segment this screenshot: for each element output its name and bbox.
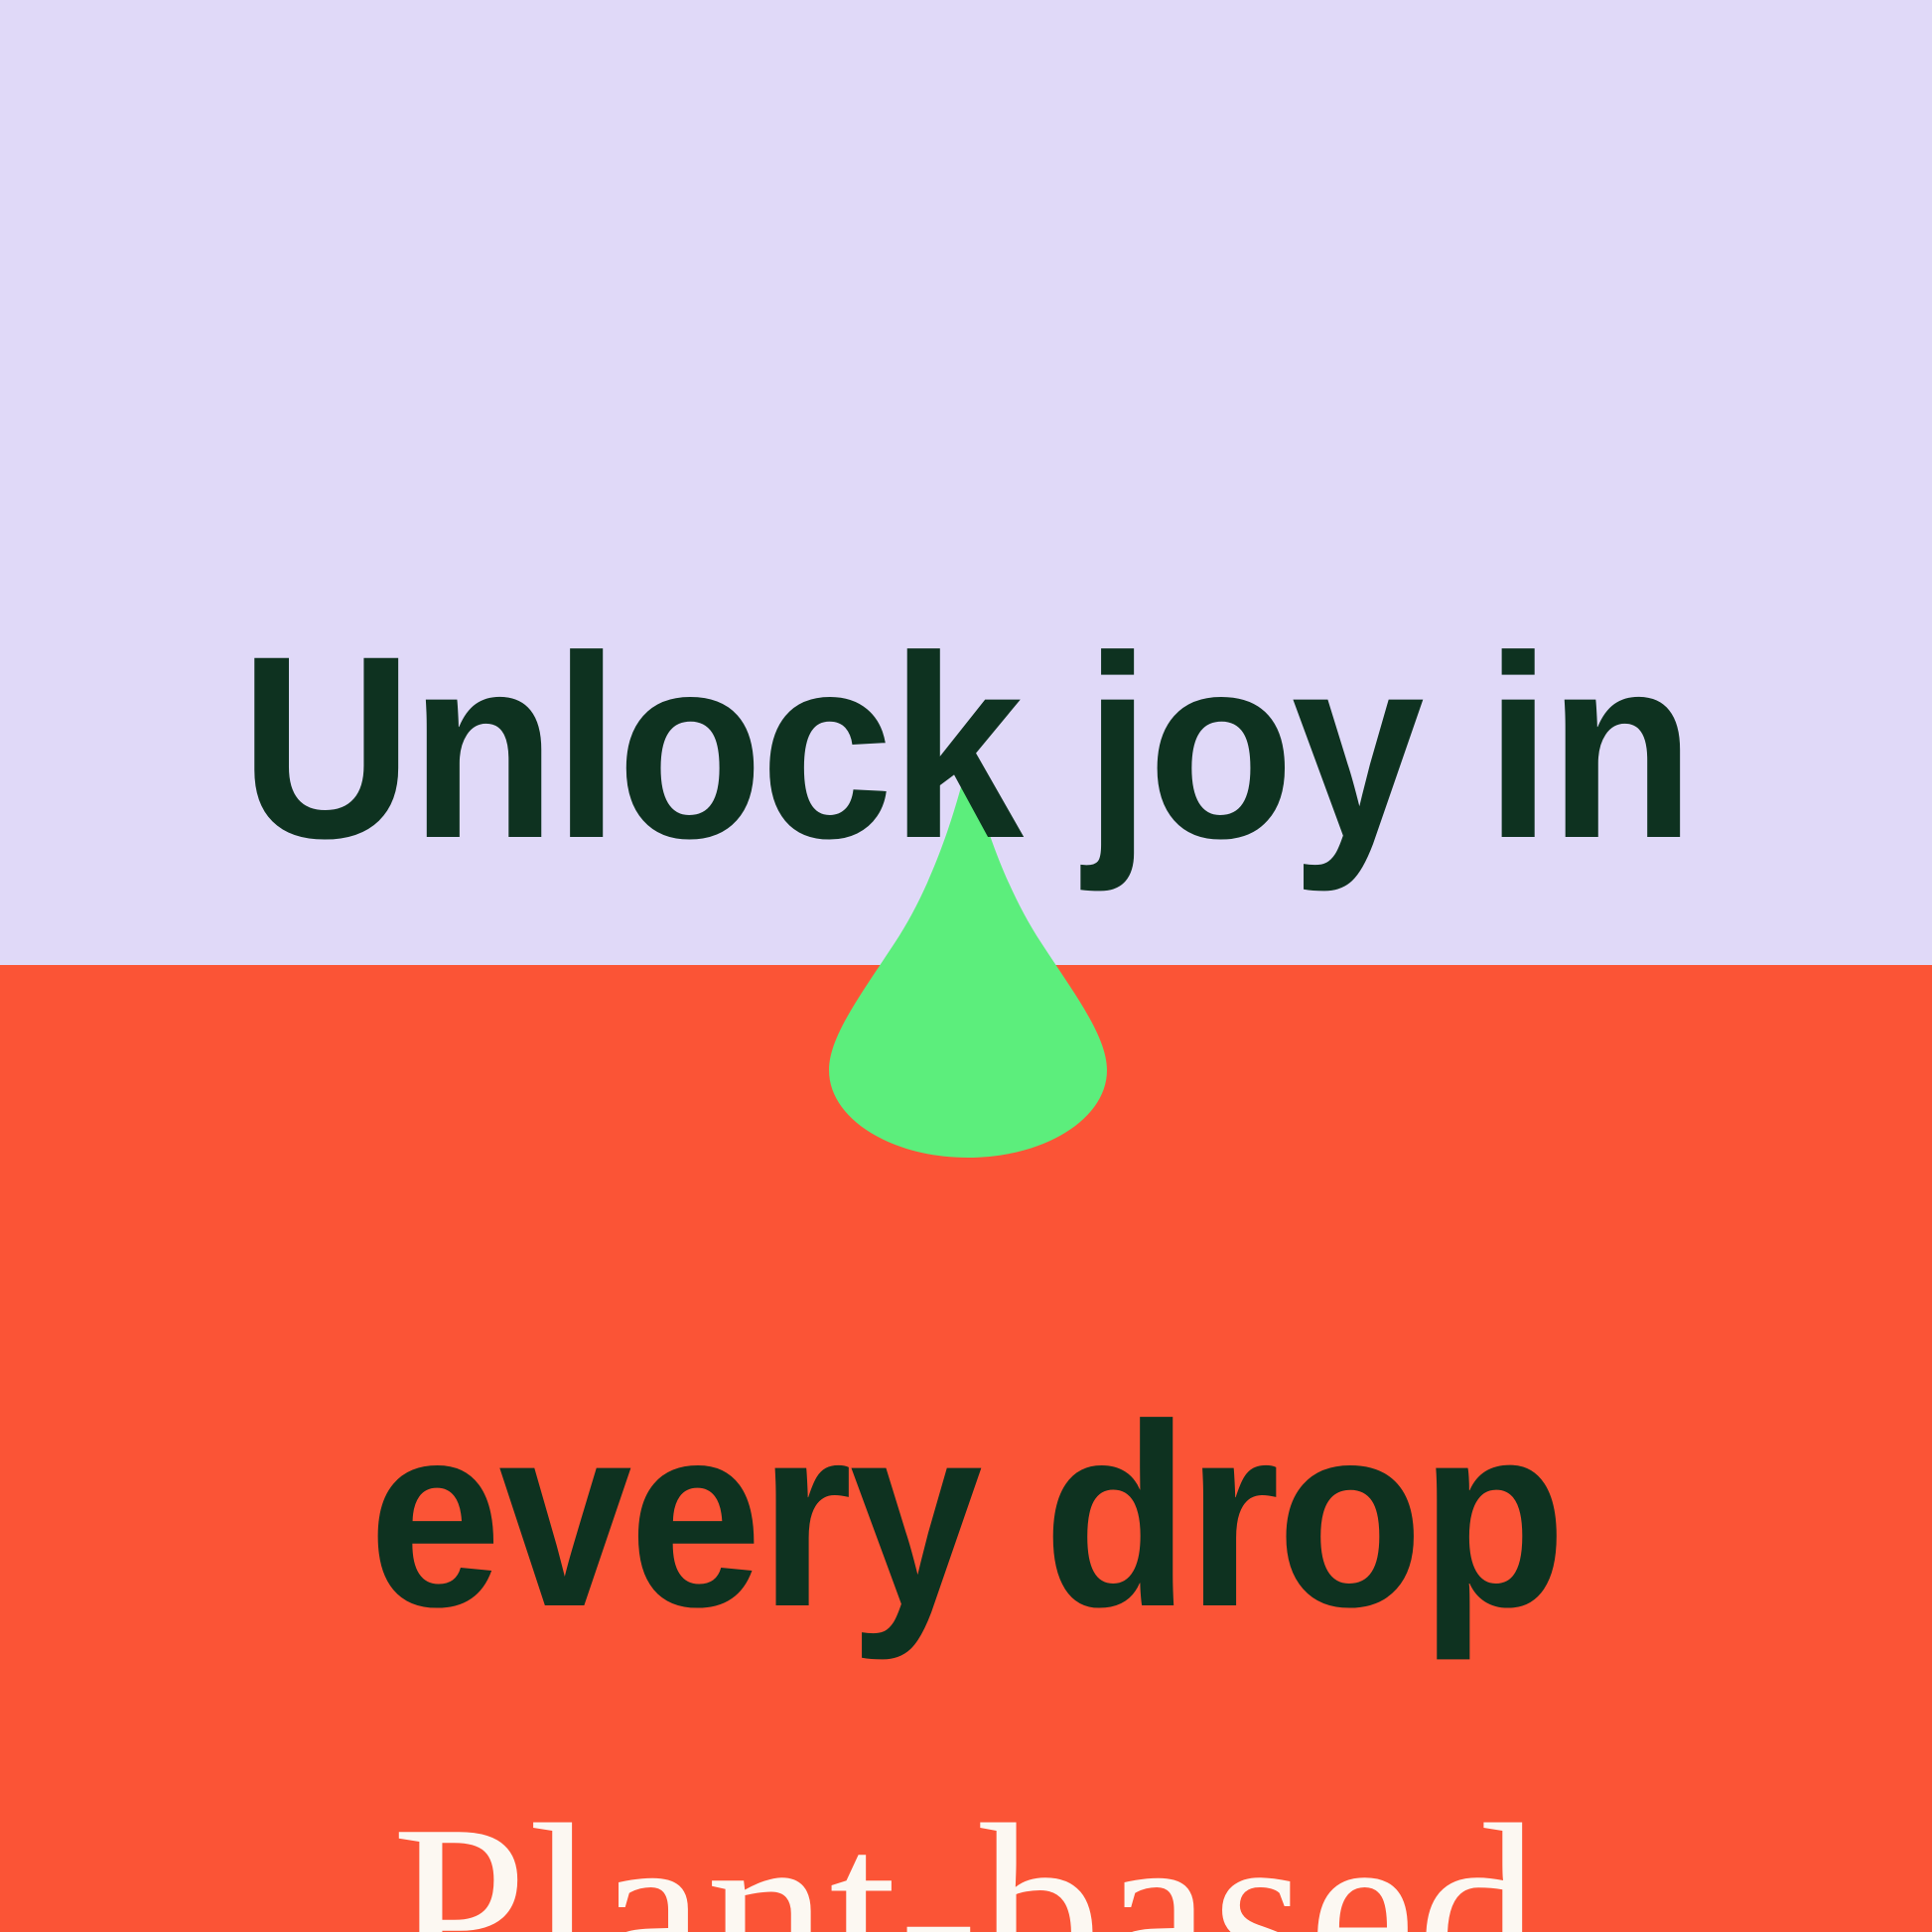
headline-line-1: Unlock joy in (77, 620, 1855, 876)
poster-canvas: Unlock joy in every drop Plant-based eve… (0, 0, 1932, 1932)
subline-line-1: Plant-based (19, 1775, 1912, 1932)
subline: Plant-based everyday bliss (0, 1229, 1932, 1932)
